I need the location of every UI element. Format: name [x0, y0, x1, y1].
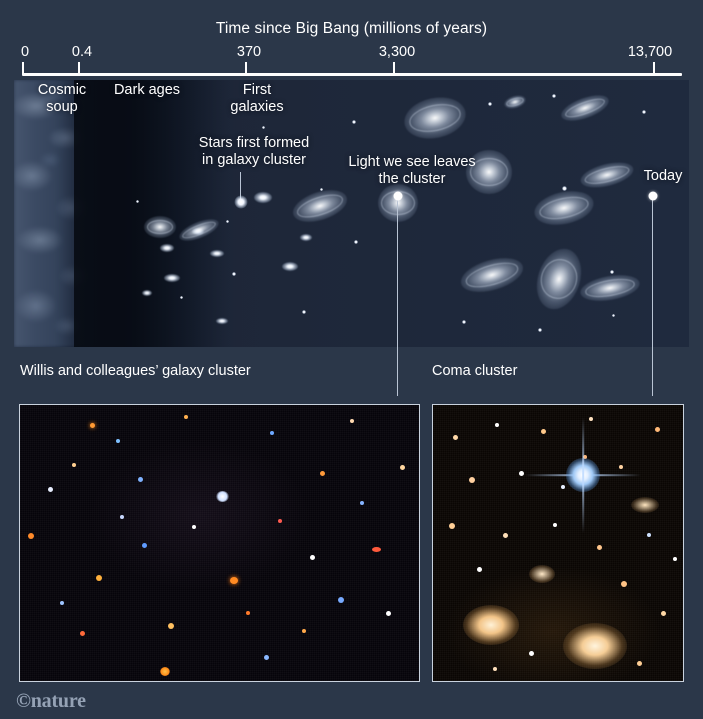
annotation-stars-first-formed: Stars first formed in galaxy cluster	[164, 135, 344, 169]
star	[136, 200, 139, 203]
star	[538, 328, 542, 332]
galaxy	[210, 250, 224, 257]
marker-stars-first-formed	[235, 196, 248, 209]
axis-label-0: 0	[21, 44, 29, 60]
star	[302, 310, 306, 314]
star	[180, 296, 183, 299]
axis-label-4: 13,700	[628, 44, 672, 60]
galaxy-spiral	[578, 271, 641, 305]
axis-tick-1	[78, 62, 80, 74]
star	[354, 240, 358, 244]
sky-panel: Cosmic soup Dark ages First galaxies Sta…	[14, 80, 689, 347]
axis-label-1: 0.4	[72, 44, 92, 60]
image-noise	[19, 404, 420, 682]
axis-label-3: 3,300	[379, 44, 415, 60]
galaxy-spiral	[144, 216, 176, 238]
galaxy-spiral	[503, 93, 527, 111]
era-label-dark-ages: Dark ages	[92, 82, 202, 99]
annotation-light-leaves: Light we see leaves the cluster	[319, 154, 505, 188]
marker-today	[649, 192, 658, 201]
axis-tick-4	[653, 62, 655, 74]
connector-light-leaves	[397, 198, 398, 396]
axis-label-2: 370	[237, 44, 261, 60]
caption-willis-cluster: Willis and colleagues’ galaxy cluster	[20, 363, 251, 379]
star	[352, 120, 356, 124]
star	[552, 94, 556, 98]
galaxy	[142, 290, 152, 296]
star	[642, 110, 646, 114]
star	[462, 320, 466, 324]
axis-tick-0	[22, 62, 24, 74]
galaxy-spiral	[529, 243, 588, 315]
galaxy	[300, 234, 312, 241]
image-willis-cluster	[19, 404, 420, 682]
nature-credit: ©nature	[16, 690, 86, 713]
axis-line	[22, 73, 682, 76]
star	[232, 272, 236, 276]
galaxy	[164, 274, 180, 282]
galaxy	[216, 318, 228, 324]
galaxy-spiral	[457, 252, 527, 298]
connector-today	[652, 198, 653, 396]
caption-coma-cluster: Coma cluster	[432, 363, 517, 379]
star	[612, 314, 615, 317]
axis-tick-3	[393, 62, 395, 74]
star	[262, 126, 265, 129]
galaxy	[282, 262, 298, 271]
galaxy	[254, 192, 272, 203]
galaxy-spiral	[531, 186, 596, 230]
annotation-today: Today	[618, 168, 689, 185]
star	[226, 220, 229, 223]
era-label-cosmic-soup: Cosmic soup	[22, 82, 102, 116]
marker-light-leaves	[394, 192, 403, 201]
image-coma-cluster	[432, 404, 684, 682]
galaxy-spiral	[401, 92, 470, 144]
infographic-root: Time since Big Bang (millions of years) …	[0, 0, 703, 719]
axis-tick-2	[245, 62, 247, 74]
dark-ages-veil	[74, 80, 224, 347]
axis-title: Time since Big Bang (millions of years)	[0, 20, 703, 38]
galaxy	[160, 244, 174, 252]
galaxy-spiral	[289, 184, 351, 228]
star	[610, 270, 614, 274]
galaxy-spiral	[558, 90, 612, 126]
image-noise	[432, 404, 684, 682]
star	[488, 102, 492, 106]
era-label-first-galaxies: First galaxies	[199, 82, 315, 116]
